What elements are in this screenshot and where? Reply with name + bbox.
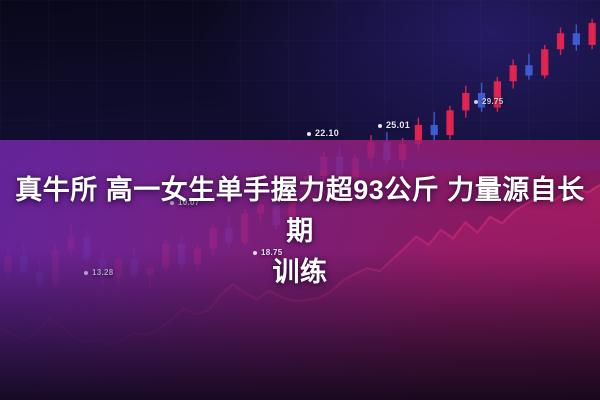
data-label-dot [474,100,478,104]
news-thumbnail: 10.0722.1025.0129.7518.7513.28 真牛所 高一女生单… [0,0,600,400]
headline-line-2: 训练 [8,252,592,293]
overlay-top-fade [0,140,600,170]
data-label-dot [378,124,382,128]
page-title: 真牛所 高一女生单手握力超93公斤 力量源自长期 训练 [0,170,600,293]
data-label-dot [307,132,311,136]
headline-line-1: 真牛所 高一女生单手握力超93公斤 力量源自长期 [8,170,592,252]
data-label-25-01: 25.01 [378,120,410,130]
data-label-29-75: 29.75 [474,97,504,106]
data-label-22-10: 22.10 [307,128,339,138]
